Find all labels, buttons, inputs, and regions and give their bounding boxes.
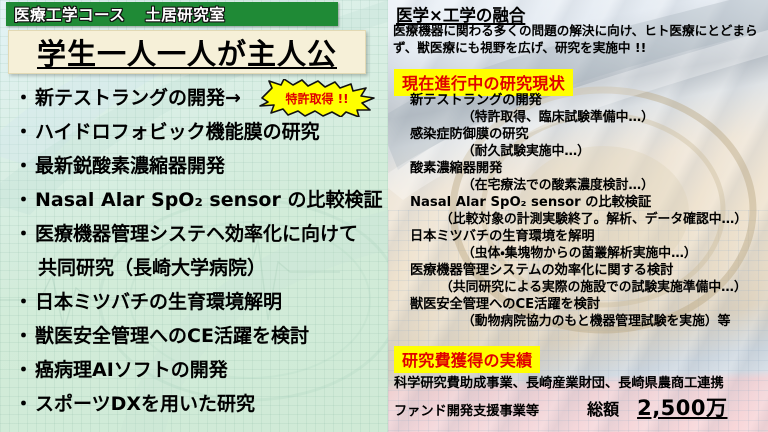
left-panel: 医療工学コース土居研究室 学生一人一人が主人公 ・新テストラングの開発→・ハイド… (0, 0, 388, 432)
headline-text: 学生一人一人が主人公 (37, 31, 337, 73)
bullet-mark-icon: ・ (14, 83, 33, 110)
patent-badge-label: 特許取得 !! (258, 79, 376, 117)
ongoing-research-title: 医療機器管理システムの効率化に関する検討 (394, 262, 766, 279)
research-bullet-label: 日本ミツバチの生育環境解明 (35, 287, 282, 314)
funding-sources-text: 科学研究費助成事業、長崎産業財団、長崎県農商工連携 (394, 372, 724, 396)
slide-root: 医療工学コース土居研究室 学生一人一人が主人公 ・新テストラングの開発→・ハイド… (0, 0, 768, 432)
funding-heading: 研究費獲得の実績 (394, 346, 540, 373)
bullet-mark-icon: ・ (14, 389, 33, 416)
research-bullet-label: Nasal Alar SpO₂ sensor の比較検証 (35, 185, 382, 212)
funding-line-2: ファンド開発支援事業等 総額 2,500万 (394, 396, 766, 424)
funding-body: 科学研究費助成事業、長崎産業財団、長崎県農商工連携 ファンド開発支援事業等 総額… (394, 372, 766, 424)
research-bullet-label: 医療機器管理システヘ効率化に向けて (35, 219, 358, 246)
funding-fund-text: ファンド開発支援事業等 (394, 400, 539, 424)
course-name: 医療工学コース (14, 6, 125, 24)
bullet-mark-icon: ・ (14, 117, 33, 144)
headline-box: 学生一人一人が主人公 (8, 30, 366, 74)
research-bullet-list: ・新テストラングの開発→・ハイドロフォビック機能膜の研究・最新鋭酸素濃縮器開発・… (14, 79, 384, 419)
ongoing-research-title: 獣医安全管理へのCE活躍を検討 (394, 296, 766, 313)
research-bullet-item: ・Nasal Alar SpO₂ sensor の比較検証 (14, 181, 384, 215)
course-title-bar: 医療工学コース土居研究室 (6, 2, 338, 26)
research-bullet-label: 癌病理AIソフトの開発 (35, 355, 228, 382)
ongoing-research-title: 酸素濃縮器開発 (394, 160, 766, 177)
right-panel: 医学×工学の融合 医療機器に関わる多くの問題の解決に向け、ヒト医療にとどまらず、… (388, 0, 768, 432)
ongoing-research-title: 日本ミツバチの生育環境を解明 (394, 228, 766, 245)
ongoing-research-status: （動物病院協力のもと機器管理試験を実施）等 (394, 313, 766, 330)
research-bullet-item: ・医療機器管理システヘ効率化に向けて (14, 215, 384, 249)
research-bullet-item: ・獣医安全管理へのCE活躍を検討 (14, 317, 384, 351)
bullet-mark-icon: ・ (14, 355, 33, 382)
research-bullet-item: ・スポーツDXを用いた研究 (14, 385, 384, 419)
ongoing-research-status: （比較対象の計測実験終了。解析、データ確認中…） (394, 211, 766, 228)
research-bullet-label: ハイドロフォビック機能膜の研究 (35, 117, 320, 144)
research-bullet-item: ・ハイドロフォビック機能膜の研究 (14, 113, 384, 147)
ongoing-research-status: （耐久試験実施中…） (394, 143, 766, 160)
fusion-description: 医療機器に関わる多くの問題の解決に向け、ヒト医療にとどまらず、獣医療にも視野を広… (393, 22, 765, 56)
bullet-mark-icon: ・ (14, 219, 33, 246)
ongoing-research-status: （特許取得、臨床試験準備中…） (394, 109, 766, 126)
funding-line-1: 科学研究費助成事業、長崎産業財団、長崎県農商工連携 (394, 372, 766, 396)
patent-starburst-badge: 特許取得 !! (258, 79, 376, 117)
course-bar-text: 医療工学コース土居研究室 (14, 3, 225, 25)
research-bullet-item: ・日本ミツバチの生育環境解明 (14, 283, 384, 317)
bullet-mark-icon: ・ (14, 321, 33, 348)
research-bullet-item: ・最新鋭酸素濃縮器開発 (14, 147, 384, 181)
lab-name: 土居研究室 (145, 6, 225, 24)
research-bullet-label: 共同研究（長崎大学病院） (38, 253, 266, 280)
bullet-mark-icon: ・ (14, 151, 33, 178)
ongoing-research-status: （在宅療法での酸素濃度検討…） (394, 177, 766, 194)
funding-total-value: 2,500万 (637, 396, 727, 420)
ongoing-research-title: 新テストラングの開発 (394, 92, 766, 109)
research-bullet-label: スポーツDXを用いた研究 (35, 389, 255, 416)
funding-total-label: 総額 (587, 398, 619, 422)
ongoing-research-status: （共同研究による実際の施設での試験実施準備中…） (394, 279, 766, 296)
bullet-mark-icon: ・ (14, 185, 33, 212)
research-bullet-item: 共同研究（長崎大学病院） (14, 249, 384, 283)
research-bullet-label: 最新鋭酸素濃縮器開発 (35, 151, 225, 178)
bullet-mark-icon: ・ (14, 287, 33, 314)
ongoing-research-status: （虫体・集塊物からの菌叢解析実施中…） (394, 245, 766, 262)
research-bullet-label: 獣医安全管理へのCE活躍を検討 (35, 321, 309, 348)
ongoing-research-list: 新テストラングの開発（特許取得、臨床試験準備中…）感染症防御膜の研究（耐久試験実… (394, 92, 766, 330)
research-bullet-label: 新テストラングの開発→ (35, 83, 241, 110)
ongoing-research-title: Nasal Alar SpO₂ sensor の比較検証 (394, 194, 766, 211)
ongoing-research-title: 感染症防御膜の研究 (394, 126, 766, 143)
research-bullet-item: ・癌病理AIソフトの開発 (14, 351, 384, 385)
